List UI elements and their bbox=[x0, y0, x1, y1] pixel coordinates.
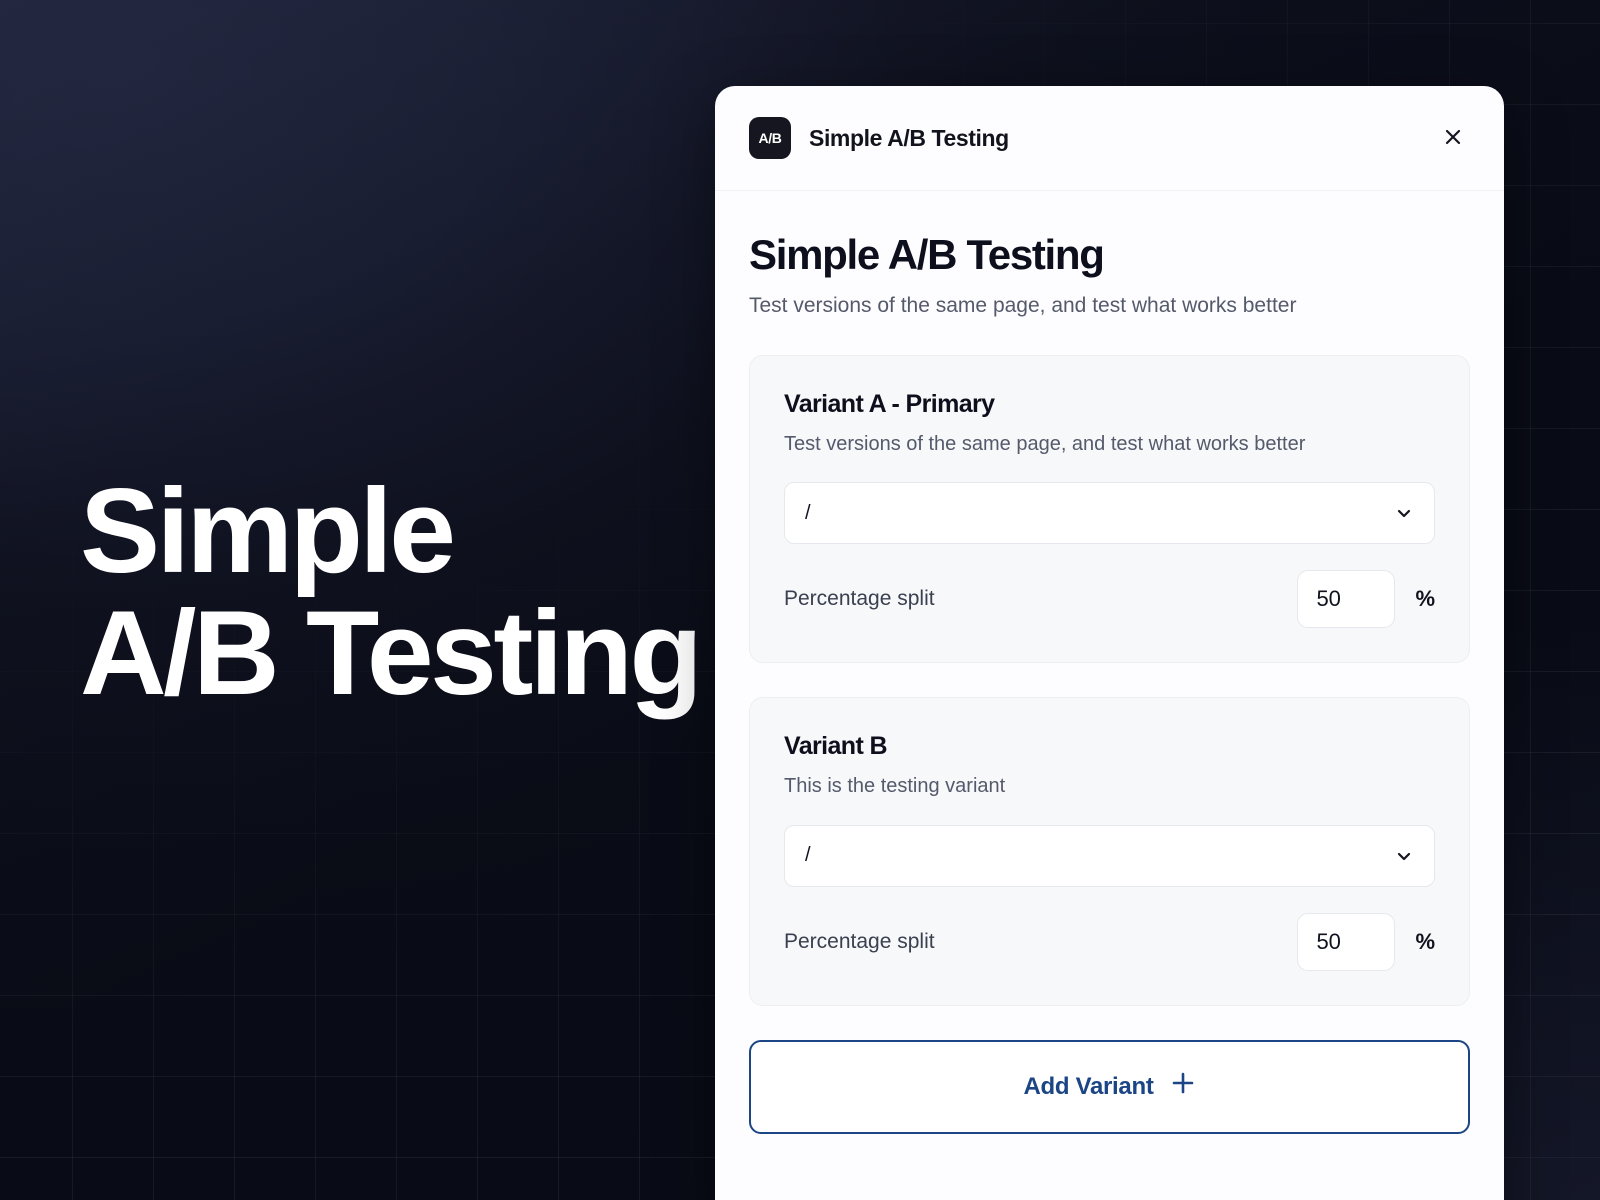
percent-sign-label: % bbox=[1415, 929, 1435, 955]
variant-page-select[interactable]: / bbox=[784, 482, 1435, 544]
percentage-split-row: Percentage split 50 % bbox=[784, 913, 1435, 971]
chevron-down-icon bbox=[1394, 503, 1414, 523]
variant-title: Variant B bbox=[784, 732, 1435, 761]
close-icon bbox=[1442, 126, 1464, 151]
panel-header: A/B Simple A/B Testing bbox=[715, 86, 1504, 191]
percentage-split-input[interactable]: 50 bbox=[1297, 570, 1395, 628]
add-variant-button[interactable]: Add Variant bbox=[749, 1040, 1470, 1134]
variant-page-select-value: / bbox=[805, 844, 1394, 867]
variant-page-select-value: / bbox=[805, 502, 1394, 525]
percentage-split-row: Percentage split 50 % bbox=[784, 570, 1435, 628]
hero-headline: Simple A/B Testing bbox=[80, 470, 700, 715]
variant-description: Test versions of the same page, and test… bbox=[784, 430, 1435, 458]
percentage-split-input[interactable]: 50 bbox=[1297, 913, 1395, 971]
percentage-split-label: Percentage split bbox=[784, 930, 1297, 954]
app-logo-badge: A/B bbox=[749, 117, 791, 159]
variant-title: Variant A - Primary bbox=[784, 390, 1435, 419]
page-subtitle: Test versions of the same page, and test… bbox=[749, 291, 1409, 321]
add-variant-label: Add Variant bbox=[1023, 1073, 1153, 1101]
panel-body: Simple A/B Testing Test versions of the … bbox=[715, 191, 1504, 1134]
variant-card-a: Variant A - Primary Test versions of the… bbox=[749, 355, 1470, 663]
page-title: Simple A/B Testing bbox=[749, 233, 1470, 277]
close-button[interactable] bbox=[1436, 121, 1470, 155]
percentage-split-label: Percentage split bbox=[784, 587, 1297, 611]
variant-description: This is the testing variant bbox=[784, 772, 1435, 800]
panel-header-title: Simple A/B Testing bbox=[809, 125, 1436, 152]
app-modal-panel: A/B Simple A/B Testing Simple A/B Testin… bbox=[715, 86, 1504, 1200]
chevron-down-icon bbox=[1394, 846, 1414, 866]
percent-sign-label: % bbox=[1415, 586, 1435, 612]
variant-page-select[interactable]: / bbox=[784, 825, 1435, 887]
variant-card-b: Variant B This is the testing variant / … bbox=[749, 697, 1470, 1005]
plus-icon bbox=[1170, 1070, 1196, 1103]
